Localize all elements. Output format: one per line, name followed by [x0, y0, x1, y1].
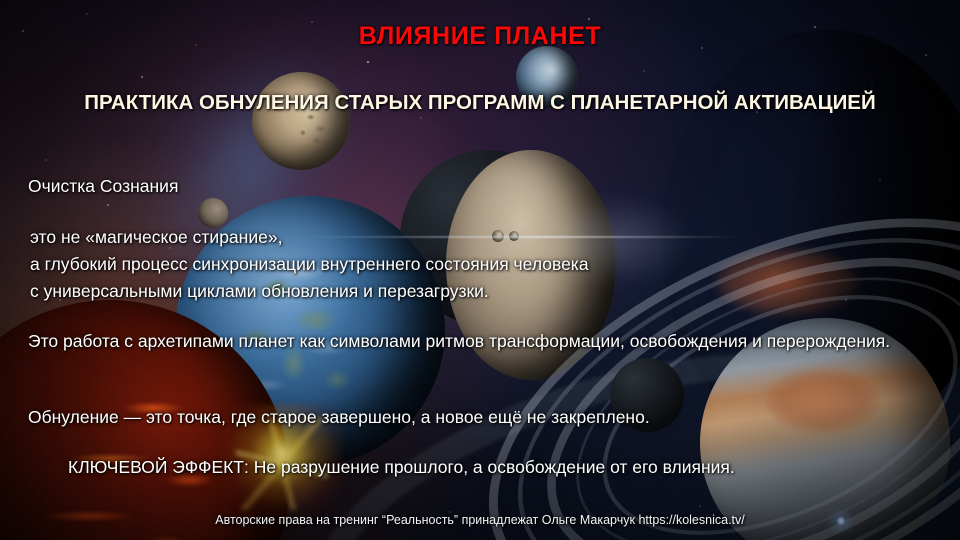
lead-heading: Очистка Сознания [28, 176, 178, 197]
slide-title: ВЛИЯНИЕ ПЛАНЕТ [0, 22, 960, 51]
slide-subtitle: ПРАКТИКА ОБНУЛЕНИЯ СТАРЫХ ПРОГРАММ С ПЛА… [70, 86, 890, 119]
body-line: с универсальными циклами обновления и пе… [30, 278, 589, 305]
copyright-footer: Авторские права на тренинг “Реальность” … [0, 513, 960, 527]
body-line: это не «магическое стирание», [30, 224, 589, 251]
key-effect-statement: КЛЮЧЕВОЙ ЭФФЕКТ: Не разрушение прошлого,… [68, 457, 735, 478]
paragraph-zeroing: Обнуление — это точка, где старое заверш… [28, 403, 928, 431]
presentation-slide: ВЛИЯНИЕ ПЛАНЕТ ПРАКТИКА ОБНУЛЕНИЯ СТАРЫХ… [0, 0, 960, 540]
body-line: а глубокий процесс синхронизации внутрен… [30, 251, 589, 278]
slide-content: ВЛИЯНИЕ ПЛАНЕТ ПРАКТИКА ОБНУЛЕНИЯ СТАРЫХ… [0, 0, 960, 540]
body-block-definition: это не «магическое стирание», а глубокий… [30, 224, 589, 305]
paragraph-archetypes: Это работа с архетипами планет как симво… [28, 327, 928, 355]
